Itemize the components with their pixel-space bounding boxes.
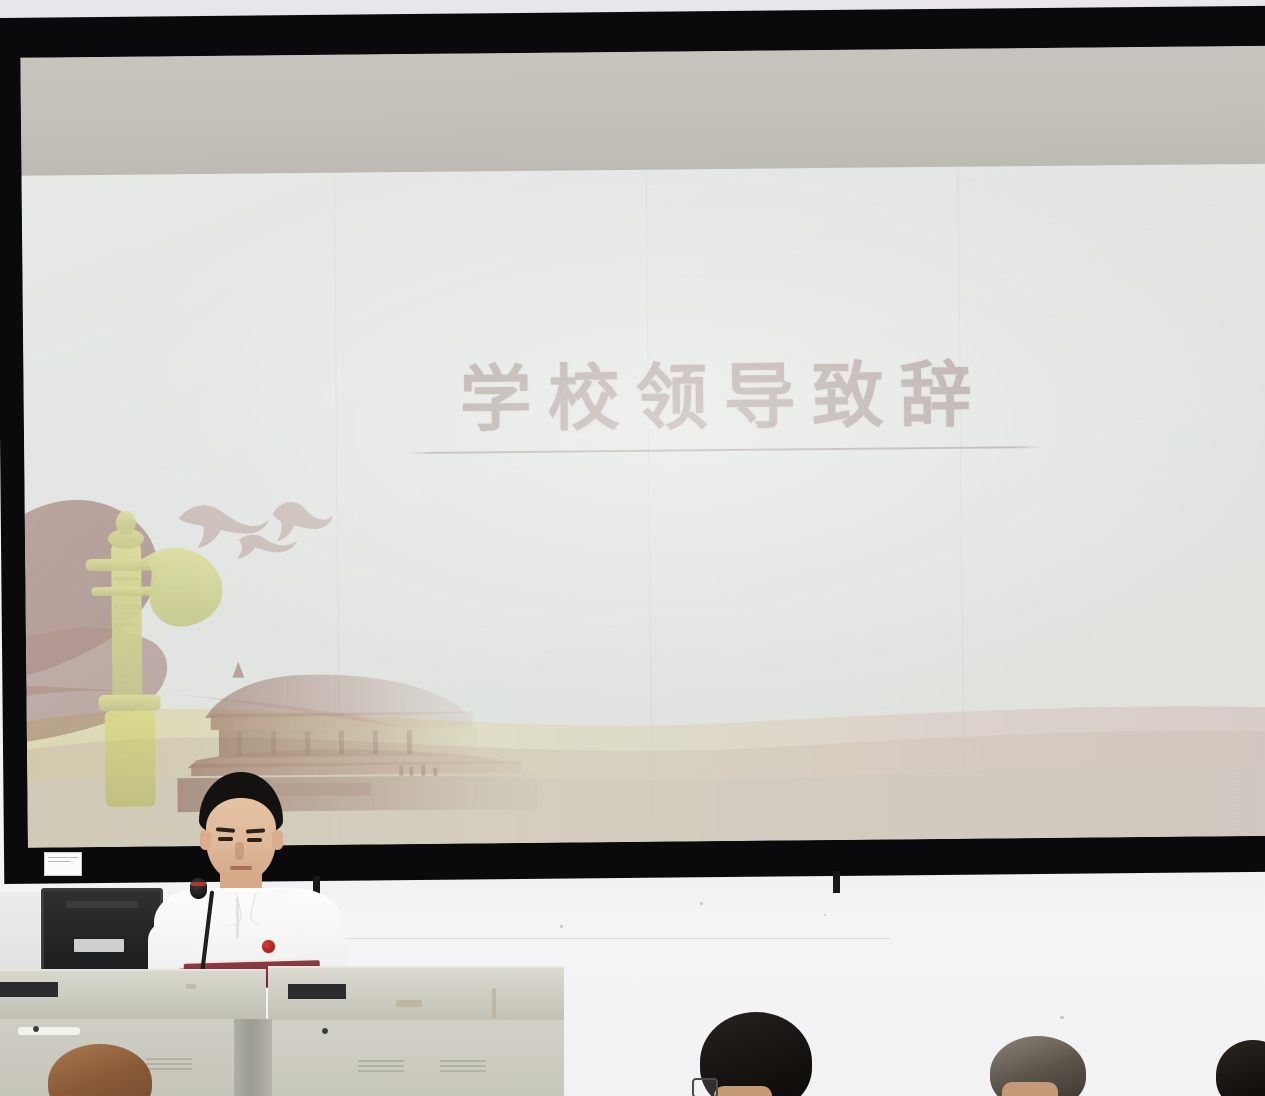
- slide-doves-decoration: [173, 491, 359, 573]
- podium-scuff-1: [396, 1000, 422, 1007]
- monitor-housing: [0, 892, 40, 976]
- screen-unused-band: [20, 46, 1265, 176]
- speaker-eye-left: [218, 837, 233, 841]
- podium-center-gap: [234, 1019, 272, 1096]
- speaker-mouth: [230, 866, 252, 870]
- monitor-label: [74, 939, 124, 952]
- slide-title: 学校领导致辞: [403, 358, 1044, 436]
- monitor-bezel-strip: [66, 901, 138, 908]
- speaker-ear-right: [272, 830, 283, 850]
- podium-knob-right[interactable]: [322, 1028, 328, 1034]
- audience-head-center-face: [714, 1086, 772, 1096]
- podium-vent-mid: [358, 1060, 404, 1062]
- podium-drawer-handle[interactable]: [18, 1027, 80, 1035]
- podium-vent-left: [146, 1058, 192, 1060]
- podium-vent-right: [440, 1060, 486, 1062]
- speaker-shirt-placket: [236, 898, 239, 938]
- microphone-red-ring: [191, 882, 206, 886]
- podium-label-left: [0, 982, 58, 997]
- slide-title-underline: [408, 446, 1040, 454]
- podium-desk-right-front: [272, 1020, 564, 1096]
- podium-scuff-2: [492, 988, 496, 1018]
- presentation-photo: 学校领导致辞: [0, 0, 1265, 1096]
- projected-slide: 学校领导致辞: [22, 164, 1265, 848]
- screen-surface: 学校领导致辞: [20, 46, 1265, 848]
- audience-glasses: [692, 1078, 718, 1096]
- audience-head-right-face: [1002, 1082, 1058, 1096]
- wall-label-sticker: [44, 852, 82, 876]
- speaker-ear-left: [200, 830, 211, 850]
- podium-label-right: [288, 984, 346, 999]
- party-emblem-pin: [262, 940, 275, 953]
- speaker-eye-right: [247, 838, 262, 842]
- podium-knob-left[interactable]: [33, 1026, 39, 1032]
- podium-scuff-3: [186, 984, 196, 989]
- screen-mount-tab-right: [833, 871, 840, 893]
- slide-title-block: 学校领导致辞: [403, 358, 1044, 454]
- speaker-nose: [235, 842, 244, 860]
- crt-monitor: [41, 888, 163, 982]
- speaker-figure: [150, 772, 350, 987]
- projection-screen: 学校领导致辞: [0, 6, 1265, 884]
